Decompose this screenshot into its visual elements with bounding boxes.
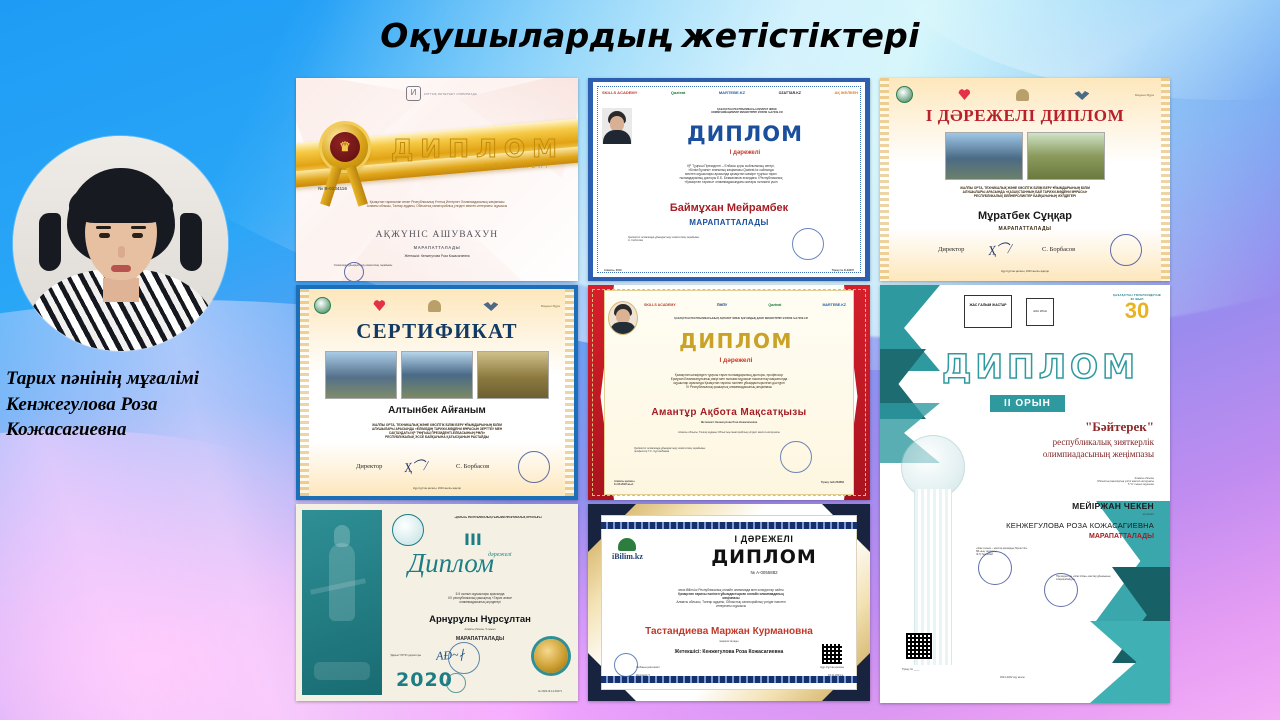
c6-contest-line-1: республикалық зияткерлік xyxy=(1053,437,1154,447)
c6-logo-30-icon: 30 xyxy=(1112,301,1162,321)
c3-signer-name: С. Борбасов xyxy=(1042,246,1075,253)
portrait-brow-left xyxy=(96,226,111,229)
c8-subheading: І ДӘРЕЖЕЛІ xyxy=(680,534,848,544)
c3-recipient: Мұратбек Сұңқар xyxy=(880,210,1170,222)
c2-logo-akzhelken: АҚ ЖЕЛКЕН xyxy=(834,90,858,95)
c7-year: 2020 xyxy=(396,669,453,691)
caption-line-3: Кожасагиевна xyxy=(6,417,291,443)
certificates-grid: ♛ ДИПЛОМ І ДӘРЕЖЕЛІ И ҰЛТТЫҚ ИНТЕРНЕТ ОЛ… xyxy=(296,78,1170,703)
portrait-neck xyxy=(103,278,139,302)
c5-logo-martebe: MARTEBE.KZ xyxy=(822,303,846,307)
c8-signer-role: Жобаның жетекшісі xyxy=(636,666,659,669)
c7-rosette-icon xyxy=(534,639,568,673)
portrait-hair-right xyxy=(180,213,202,271)
c2-heading: ДИПЛОМ xyxy=(634,122,856,146)
portrait-brow-right xyxy=(131,226,146,229)
c3-dome-icon xyxy=(1016,89,1029,101)
c1-heading: ДИПЛОМ xyxy=(391,134,564,163)
c5-ministry-line: ҚАЗАҚСТАН РЕСПУБЛИКАСЫНЫҢ АҚПАРАТ ЖӘНЕ Қ… xyxy=(638,317,844,320)
c5-teacher-line: Жетекшісі: Кенжегулова Роза Кожасагиевна xyxy=(588,421,870,424)
c7-awarded-label: МАРАПАТТАЛАДЫ xyxy=(394,636,566,642)
c3-awarded-label: МАРАПАТТАЛАДЫ xyxy=(880,226,1170,232)
c2-city-date: Алматы, 2019 xyxy=(604,269,622,272)
c2-logo-ozattar: OZATTAR.KZ xyxy=(779,91,801,95)
c1-org-logo-text: ҰЛТТЫҚ ИНТЕРНЕТ ОЛИМПИАДА xyxy=(424,92,477,96)
c8-signer-name: Досрахов Т. xyxy=(636,674,650,677)
c3-heart-icon xyxy=(958,89,970,100)
c8-leaf-icon xyxy=(618,538,636,551)
c2-logo-qazteat: Qazteat xyxy=(671,90,685,95)
c5-recipient: Амантұр Ақбота Мақсатқызы xyxy=(588,407,870,418)
c6-contest-line-2: олимпиадасының жеңімпазы xyxy=(1043,449,1154,459)
c7-heading: Диплом xyxy=(408,548,494,579)
c7-org-line: «ДАРЫН» РЕСПУБЛИКАЛЫҚ ҒЫЛЫМИ-ПРАКТИКАЛЫҚ… xyxy=(428,516,568,519)
c1-body-2: Алматы облысы, Талғар ауданы, Облыстық с… xyxy=(310,204,564,208)
c6-qr-code xyxy=(906,633,932,659)
portrait-eye-left xyxy=(99,233,110,238)
c1-number: № B-0134116 xyxy=(318,186,347,191)
c2-ministry-2: КОММУНИКАЦИЯЛАР МИНИСТРЛІГІ КУӘЛІК №1720… xyxy=(640,111,854,114)
c6-recipient: МЕЙІРЖАН ЧЕКЕН xyxy=(1072,501,1154,511)
c3-body-3: РЕСПУБЛИКАЛЫҚ БЕЙНЕРОЛИКТЕР БАЙҚАУЫНЫҢ Ж… xyxy=(898,194,1152,198)
portrait-hair-front xyxy=(69,183,173,223)
c2-body-5: «Қазақстан тарихы» олимпиадасындағы жоға… xyxy=(612,180,850,184)
portrait-nose xyxy=(118,246,125,258)
c6-contest-name: "Бәйтерек" xyxy=(1085,419,1154,435)
presentation-slide: Оқушылардың жетістіктері Тарих пәнінің м… xyxy=(0,0,1280,720)
portrait-hair-left xyxy=(39,213,61,271)
c5-reg-number: Тіркеу №D-253863 xyxy=(821,481,844,484)
c7-body-3: олимпиадасының жүлдегері xyxy=(394,600,566,604)
c4-signature-mark: Ҳ⌒∕ xyxy=(403,455,428,476)
c4-body-4: РЕСПУБЛИКАЛЫҚ ЭССЕ БАЙҚАУЫНА ҚАТЫСҚАНЫН … xyxy=(314,435,560,439)
certificate-ibilim-first-degree[interactable]: iBilim.kz І ДӘРЕЖЕЛІ ДИПЛОМ № A-0055882 … xyxy=(588,504,870,701)
certificate-gold-internet-olympiad[interactable]: ♛ ДИПЛОМ І ДӘРЕЖЕЛІ И ҰЛТТЫҚ ИНТЕРНЕТ ОЛ… xyxy=(296,78,578,281)
c2-recipient: Баймұхан Мейрамбек xyxy=(588,202,870,214)
portrait-mouth xyxy=(111,265,131,272)
c4-signer-name: С. Борбасов xyxy=(456,463,489,470)
c5-date: 11.03.2022 жыл xyxy=(614,483,635,486)
certificate-baiterek-olympiad[interactable]: ЖАС ҒАЛЫМ ЖАСТАР ЖАС ҰЛАН ҚАЗАҚСТАН ТӘУЕ… xyxy=(880,285,1170,703)
c4-dome-icon xyxy=(428,300,441,312)
c1-teacher-line: Жетекшісі: Кенжегулова Роза Кожасагиевна xyxy=(296,254,578,258)
c4-photo-petroglyph xyxy=(477,351,549,399)
c7-signer-role: "Дарын" РҒПО директоры xyxy=(390,654,436,657)
c7-recipient: Арнұрұлы Нұрсұлтан xyxy=(394,614,566,625)
c4-ministry-emblem-icon xyxy=(314,297,331,314)
c7-statue-graphic xyxy=(302,510,382,695)
c6-place-badge: ІІ ОРЫН xyxy=(990,395,1065,412)
portrait-eye-right xyxy=(132,233,143,238)
c2-subheading: І дәрежелі xyxy=(634,150,856,156)
c4-fund-logo: Мәдени Мұра xyxy=(541,304,560,308)
c4-photo-skyline xyxy=(325,351,397,399)
c8-heading: ДИПЛОМ xyxy=(680,546,848,568)
certificate-skills-academy[interactable]: SKILLS ACADEMY Qazteat MARTEBE.KZ OZATTA… xyxy=(588,78,870,281)
c5-heading: ДИПЛОМ xyxy=(628,329,844,353)
c1-org-mark-icon: И xyxy=(406,86,421,101)
c8-footer-date: 15.11.2021 ж. xyxy=(828,674,844,677)
c8-awarded-label: марапатталады xyxy=(588,640,870,643)
c6-heading: ДИПЛОМ xyxy=(942,347,1139,386)
c8-qr-code xyxy=(822,644,842,664)
c3-heading: І ДӘРЕЖЕЛІ ДИПЛОМ xyxy=(880,106,1170,126)
caption-line-1: Тарих пәнінің мұғалімі xyxy=(6,366,291,392)
c4-heart-icon xyxy=(373,300,385,311)
c6-year: 2021-2022 оқу жылы xyxy=(1000,676,1025,679)
c7-reg-number: № 2020-III-14-00271 xyxy=(538,690,562,693)
c3-photo-city xyxy=(945,132,1023,180)
c7-school-line: Алматы облысы, 5 сынып xyxy=(394,628,566,631)
c1-recipient: АҚЖҮНІС АШУВАХУН xyxy=(296,230,578,240)
c4-photo-baiterek xyxy=(401,351,473,399)
teacher-portrait-photo xyxy=(13,136,228,351)
c2-reg-number: Тіркеу № D-29307 xyxy=(832,269,854,272)
c3-signature-mark: Ҳ⌒∕ xyxy=(987,238,1012,259)
c3-fund-logo: Мәдени Мұра xyxy=(1135,93,1154,97)
c6-reg-number: Тіркеу № ____ xyxy=(902,668,919,671)
c6-baiterek-tower-graphic xyxy=(894,435,970,665)
c6-awarded-label: МАРАПАТТАЛАДЫ xyxy=(1089,533,1154,540)
c5-signatory: профессор Г.С. Сұлтанбаева xyxy=(634,450,734,453)
certificate-first-degree-heritage[interactable]: Мәдени Мұра І ДӘРЕЖЕЛІ ДИПЛОМ ЖАЛПЫ ОРТА… xyxy=(880,78,1170,281)
c1-subheading: І ДӘРЕЖЕЛІ xyxy=(485,164,550,170)
c5-logo-skills: SKILLS ACADEMY xyxy=(644,303,676,307)
c4-heading: СЕРТИФИКАТ xyxy=(300,319,574,344)
certificate-darin-third-degree[interactable]: «ДАРЫН» РЕСПУБЛИКАЛЫҚ ҒЫЛЫМИ-ПРАКТИКАЛЫҚ… xyxy=(296,504,578,701)
slide-title: Оқушылардың жетістіктері xyxy=(300,16,1000,55)
c8-footer-city: Нұр-Сұлтан қаласы xyxy=(820,666,844,669)
c7-darin-emblem-icon xyxy=(392,514,424,546)
c6-teacher-label: жетекшісі xyxy=(1143,513,1154,516)
c6-teacher: КЕНЖЕГУЛОВА РОЗА КОЖАСАГИЕВНА xyxy=(1006,521,1154,530)
c2-portrait-icon xyxy=(602,108,632,144)
caption-line-2: Кенжегулова Роза xyxy=(6,392,291,418)
c5-subheading: І дәрежелі xyxy=(628,357,844,364)
c1-awarded-label: МАРАПАТТАЛАДЫ xyxy=(296,245,578,250)
c3-footer: Нұр-Сұлтан қаласы, 2020 жылғы қаңтар xyxy=(880,270,1170,273)
c6-grade: 5 "А" сынып оқушысы xyxy=(1097,483,1154,486)
c4-signer-role: Директор xyxy=(356,463,382,470)
c6-logo-zhas-galym: ЖАС ҒАЛЫМ ЖАСТАР xyxy=(964,295,1012,328)
c7-degree: ІІІ xyxy=(464,530,482,549)
c8-logo-text: iBilim.kz xyxy=(612,552,643,561)
c5-logo-pmpu: ПМПУ xyxy=(717,303,727,307)
c5-logo-qazteat: Qazteat xyxy=(768,303,781,307)
c4-recipient: Алтынбек Айғаным xyxy=(300,405,574,416)
certificate-essay-contest[interactable]: Мәдени Мұра СЕРТИФИКАТ Алтынбек Айғаным … xyxy=(296,285,578,500)
c2-signatory: А. Сәбитова xyxy=(628,239,738,242)
c3-ministry-emblem-icon xyxy=(896,86,913,103)
teacher-caption: Тарих пәнінің мұғалімі Кенжегулова Роза … xyxy=(6,366,291,443)
certificate-bekmakhanov-olympiad[interactable]: SKILLS ACADEMY ПМПУ Qazteat MARTEBE.KZ Қ… xyxy=(588,285,870,500)
c3-signer-role: Директор xyxy=(938,246,964,253)
c5-school-line: Алматы облысы, Талғар ауданы Облыстық са… xyxy=(618,431,840,434)
c2-logo-martebe: MARTEBE.KZ xyxy=(719,90,745,95)
c2-awarded-label: МАРАПАТТАЛАДЫ xyxy=(588,218,870,227)
c8-body-5: интернаты оқушысы xyxy=(616,604,846,608)
c3-photo-petroglyph xyxy=(1027,132,1105,180)
c2-logo-skills: SKILLS ACADEMY xyxy=(602,90,637,95)
c3-bird-icon xyxy=(1074,89,1089,100)
c6-logo-zhas-ulan: ЖАС ҰЛАН xyxy=(1026,298,1054,326)
c4-footer: Нұр-Сұлтан қаласы, 2020 жылғы қаңтар xyxy=(300,487,574,490)
c8-number: № A-0055882 xyxy=(680,570,848,575)
c4-bird-icon xyxy=(483,300,498,311)
c5-body-4: IV Республикалық қашықтық олимпиадасының… xyxy=(618,385,840,389)
c8-recipient: Тастандиева Маржан Курмановна xyxy=(588,626,870,637)
